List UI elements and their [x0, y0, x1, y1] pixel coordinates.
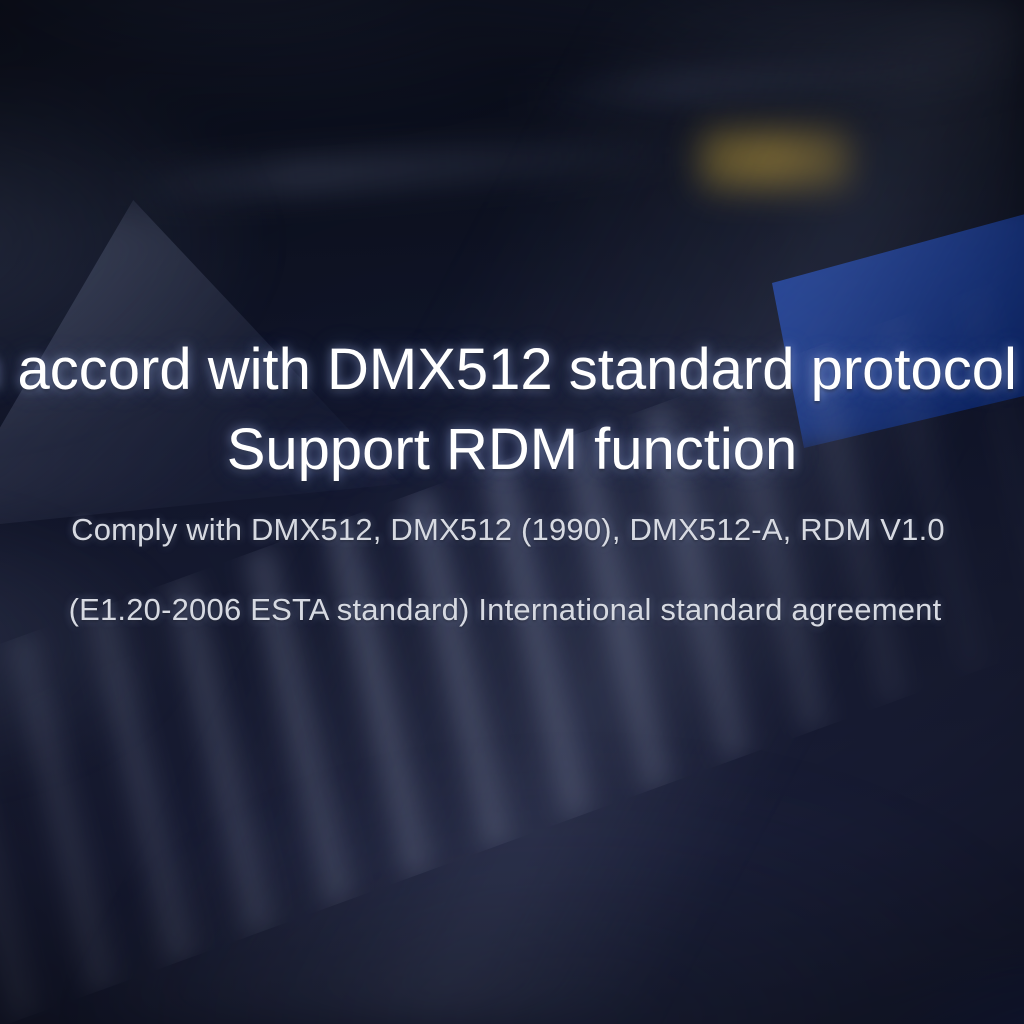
subtext-line-2: (E1.20-2006 ESTA standard) International…	[0, 570, 1024, 650]
subtext-line-1: Comply with DMX512, DMX512 (1990), DMX51…	[0, 490, 1024, 570]
slide-text-block: In accord with DMX512 standard protocol …	[0, 330, 1024, 650]
headline-line-1: In accord with DMX512 standard protocol	[0, 330, 1024, 410]
headline-line-2: Support RDM function	[0, 410, 1024, 490]
promo-slide: In accord with DMX512 standard protocol …	[0, 0, 1024, 1024]
